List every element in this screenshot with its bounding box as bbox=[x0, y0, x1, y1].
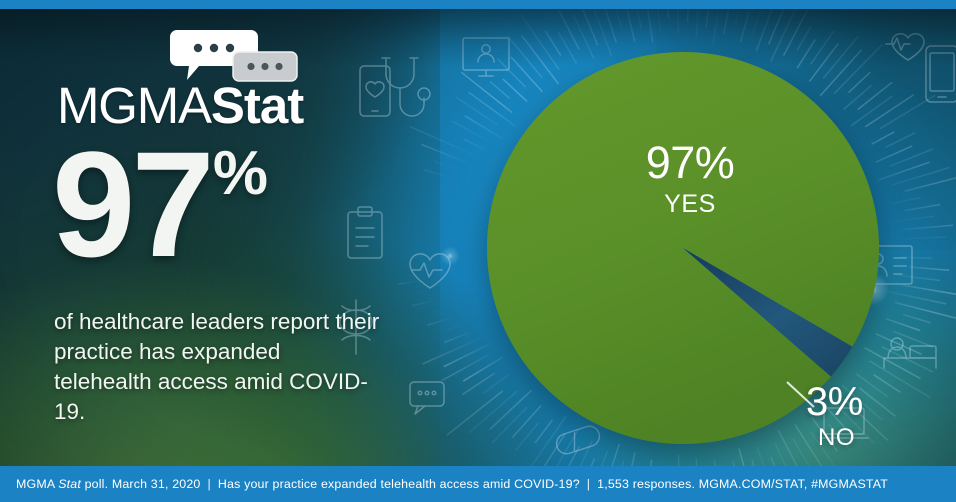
infographic-canvas: MGMAStat 97% of healthcare leaders repor… bbox=[0, 0, 956, 502]
pie-slice-name-yes: YES bbox=[630, 192, 750, 217]
footer-responses: 1,553 responses. MGMA.COM/STAT, #MGMASTA… bbox=[597, 477, 888, 491]
logo-text-stat: Stat bbox=[211, 77, 303, 134]
pie-slice-value-yes: 97% bbox=[630, 140, 750, 185]
pie-slice-label-no: 3% NO bbox=[806, 382, 916, 450]
headline-statistic: 97% bbox=[52, 133, 268, 276]
footer-separator: | bbox=[580, 477, 597, 491]
footer-source-italic: Stat bbox=[58, 477, 81, 491]
headline-percent-sign: % bbox=[213, 143, 268, 205]
headline-description: of healthcare leaders report their pract… bbox=[54, 307, 384, 427]
footer-source-line: MGMA Stat poll. March 31, 2020|Has your … bbox=[0, 477, 888, 491]
footer-bar: MGMA Stat poll. March 31, 2020|Has your … bbox=[0, 466, 956, 502]
footer-separator: | bbox=[200, 477, 217, 491]
footer-question: Has your practice expanded telehealth ac… bbox=[218, 477, 580, 491]
footer-source-prefix: MGMA bbox=[16, 477, 58, 491]
headline-number: 97 bbox=[52, 133, 211, 276]
pie-slice-name-no: NO bbox=[818, 426, 916, 450]
pie-slice-label-yes: 97% YES bbox=[630, 140, 750, 217]
footer-source-suffix: poll. March 31, 2020 bbox=[81, 477, 201, 491]
top-accent-bar bbox=[0, 0, 956, 9]
mgma-stat-logo: MGMAStat bbox=[57, 28, 307, 130]
pie-slice-value-no: 3% bbox=[806, 382, 916, 422]
